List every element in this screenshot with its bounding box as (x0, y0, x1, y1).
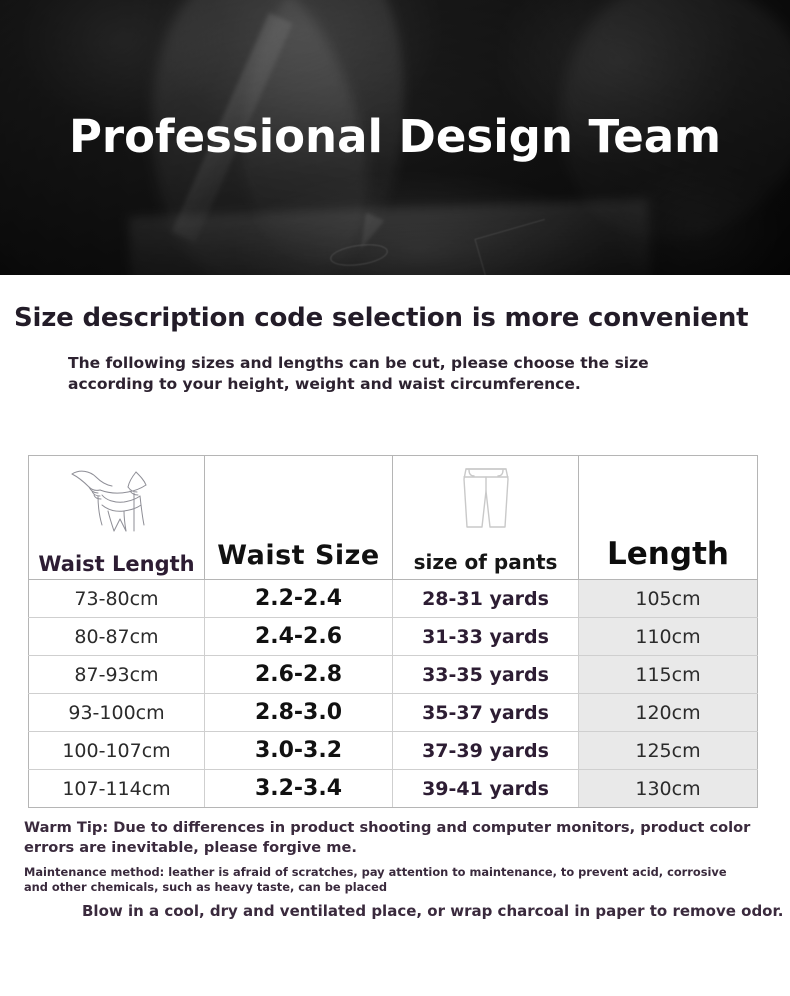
cell-waist-length: 93-100cm (29, 694, 205, 732)
table-row: 80-87cm 2.4-2.6 31-33 yards 110cm (29, 618, 758, 656)
cell-pants-size: 28-31 yards (393, 580, 579, 618)
waist-measure-icon (29, 462, 204, 534)
pants-icon (393, 462, 578, 534)
hero-banner: Professional Design Team (0, 0, 790, 275)
cell-pants-size: 37-39 yards (393, 732, 579, 770)
column-header-waist-size: Waist Size (205, 456, 393, 580)
cell-length: 110cm (579, 618, 758, 656)
column-header-waist-length-label: Waist Length (29, 553, 204, 575)
cell-pants-size: 33-35 yards (393, 656, 579, 694)
table-body: 73-80cm 2.2-2.4 28-31 yards 105cm 80-87c… (29, 580, 758, 808)
footer-notes: Warm Tip: Due to differences in product … (0, 818, 790, 922)
table-row: 107-114cm 3.2-3.4 39-41 yards 130cm (29, 770, 758, 808)
cell-waist-size: 3.2-3.4 (205, 770, 393, 808)
cell-pants-size: 35-37 yards (393, 694, 579, 732)
table-header-row: Waist Length Waist Size (29, 456, 758, 580)
cell-pants-size: 31-33 yards (393, 618, 579, 656)
size-table-wrapper: Waist Length Waist Size (28, 455, 757, 808)
table-row: 100-107cm 3.0-3.2 37-39 yards 125cm (29, 732, 758, 770)
page-title: Size description code selection is more … (0, 275, 790, 333)
cell-waist-size: 3.0-3.2 (205, 732, 393, 770)
intro-text: The following sizes and lengths can be c… (0, 333, 708, 396)
table-row: 73-80cm 2.2-2.4 28-31 yards 105cm (29, 580, 758, 618)
cell-waist-length: 87-93cm (29, 656, 205, 694)
cell-length: 120cm (579, 694, 758, 732)
odor-removal-text: Blow in a cool, dry and ventilated place… (0, 895, 790, 922)
cell-length: 125cm (579, 732, 758, 770)
column-header-pants-size-label: size of pants (393, 552, 578, 573)
cell-waist-size: 2.4-2.6 (205, 618, 393, 656)
hero-title: Professional Design Team (0, 110, 790, 163)
warm-tip-text: Warm Tip: Due to differences in product … (0, 818, 790, 857)
column-header-waist-length: Waist Length (29, 456, 205, 580)
column-header-length-label: Length (579, 538, 757, 571)
cell-waist-size: 2.8-3.0 (205, 694, 393, 732)
table-row: 87-93cm 2.6-2.8 33-35 yards 115cm (29, 656, 758, 694)
column-header-waist-size-label: Waist Size (205, 542, 392, 570)
cell-waist-size: 2.6-2.8 (205, 656, 393, 694)
size-chart-table: Waist Length Waist Size (28, 455, 758, 808)
table-row: 93-100cm 2.8-3.0 35-37 yards 120cm (29, 694, 758, 732)
cell-length: 130cm (579, 770, 758, 808)
cell-waist-length: 100-107cm (29, 732, 205, 770)
column-header-pants-size: size of pants (393, 456, 579, 580)
column-header-length: Length (579, 456, 758, 580)
cell-waist-size: 2.2-2.4 (205, 580, 393, 618)
cell-waist-length: 107-114cm (29, 770, 205, 808)
cell-waist-length: 80-87cm (29, 618, 205, 656)
cell-length: 105cm (579, 580, 758, 618)
table-header: Waist Length Waist Size (29, 456, 758, 580)
maintenance-text: Maintenance method: leather is afraid of… (0, 857, 790, 895)
cell-pants-size: 39-41 yards (393, 770, 579, 808)
cell-length: 115cm (579, 656, 758, 694)
cell-waist-length: 73-80cm (29, 580, 205, 618)
